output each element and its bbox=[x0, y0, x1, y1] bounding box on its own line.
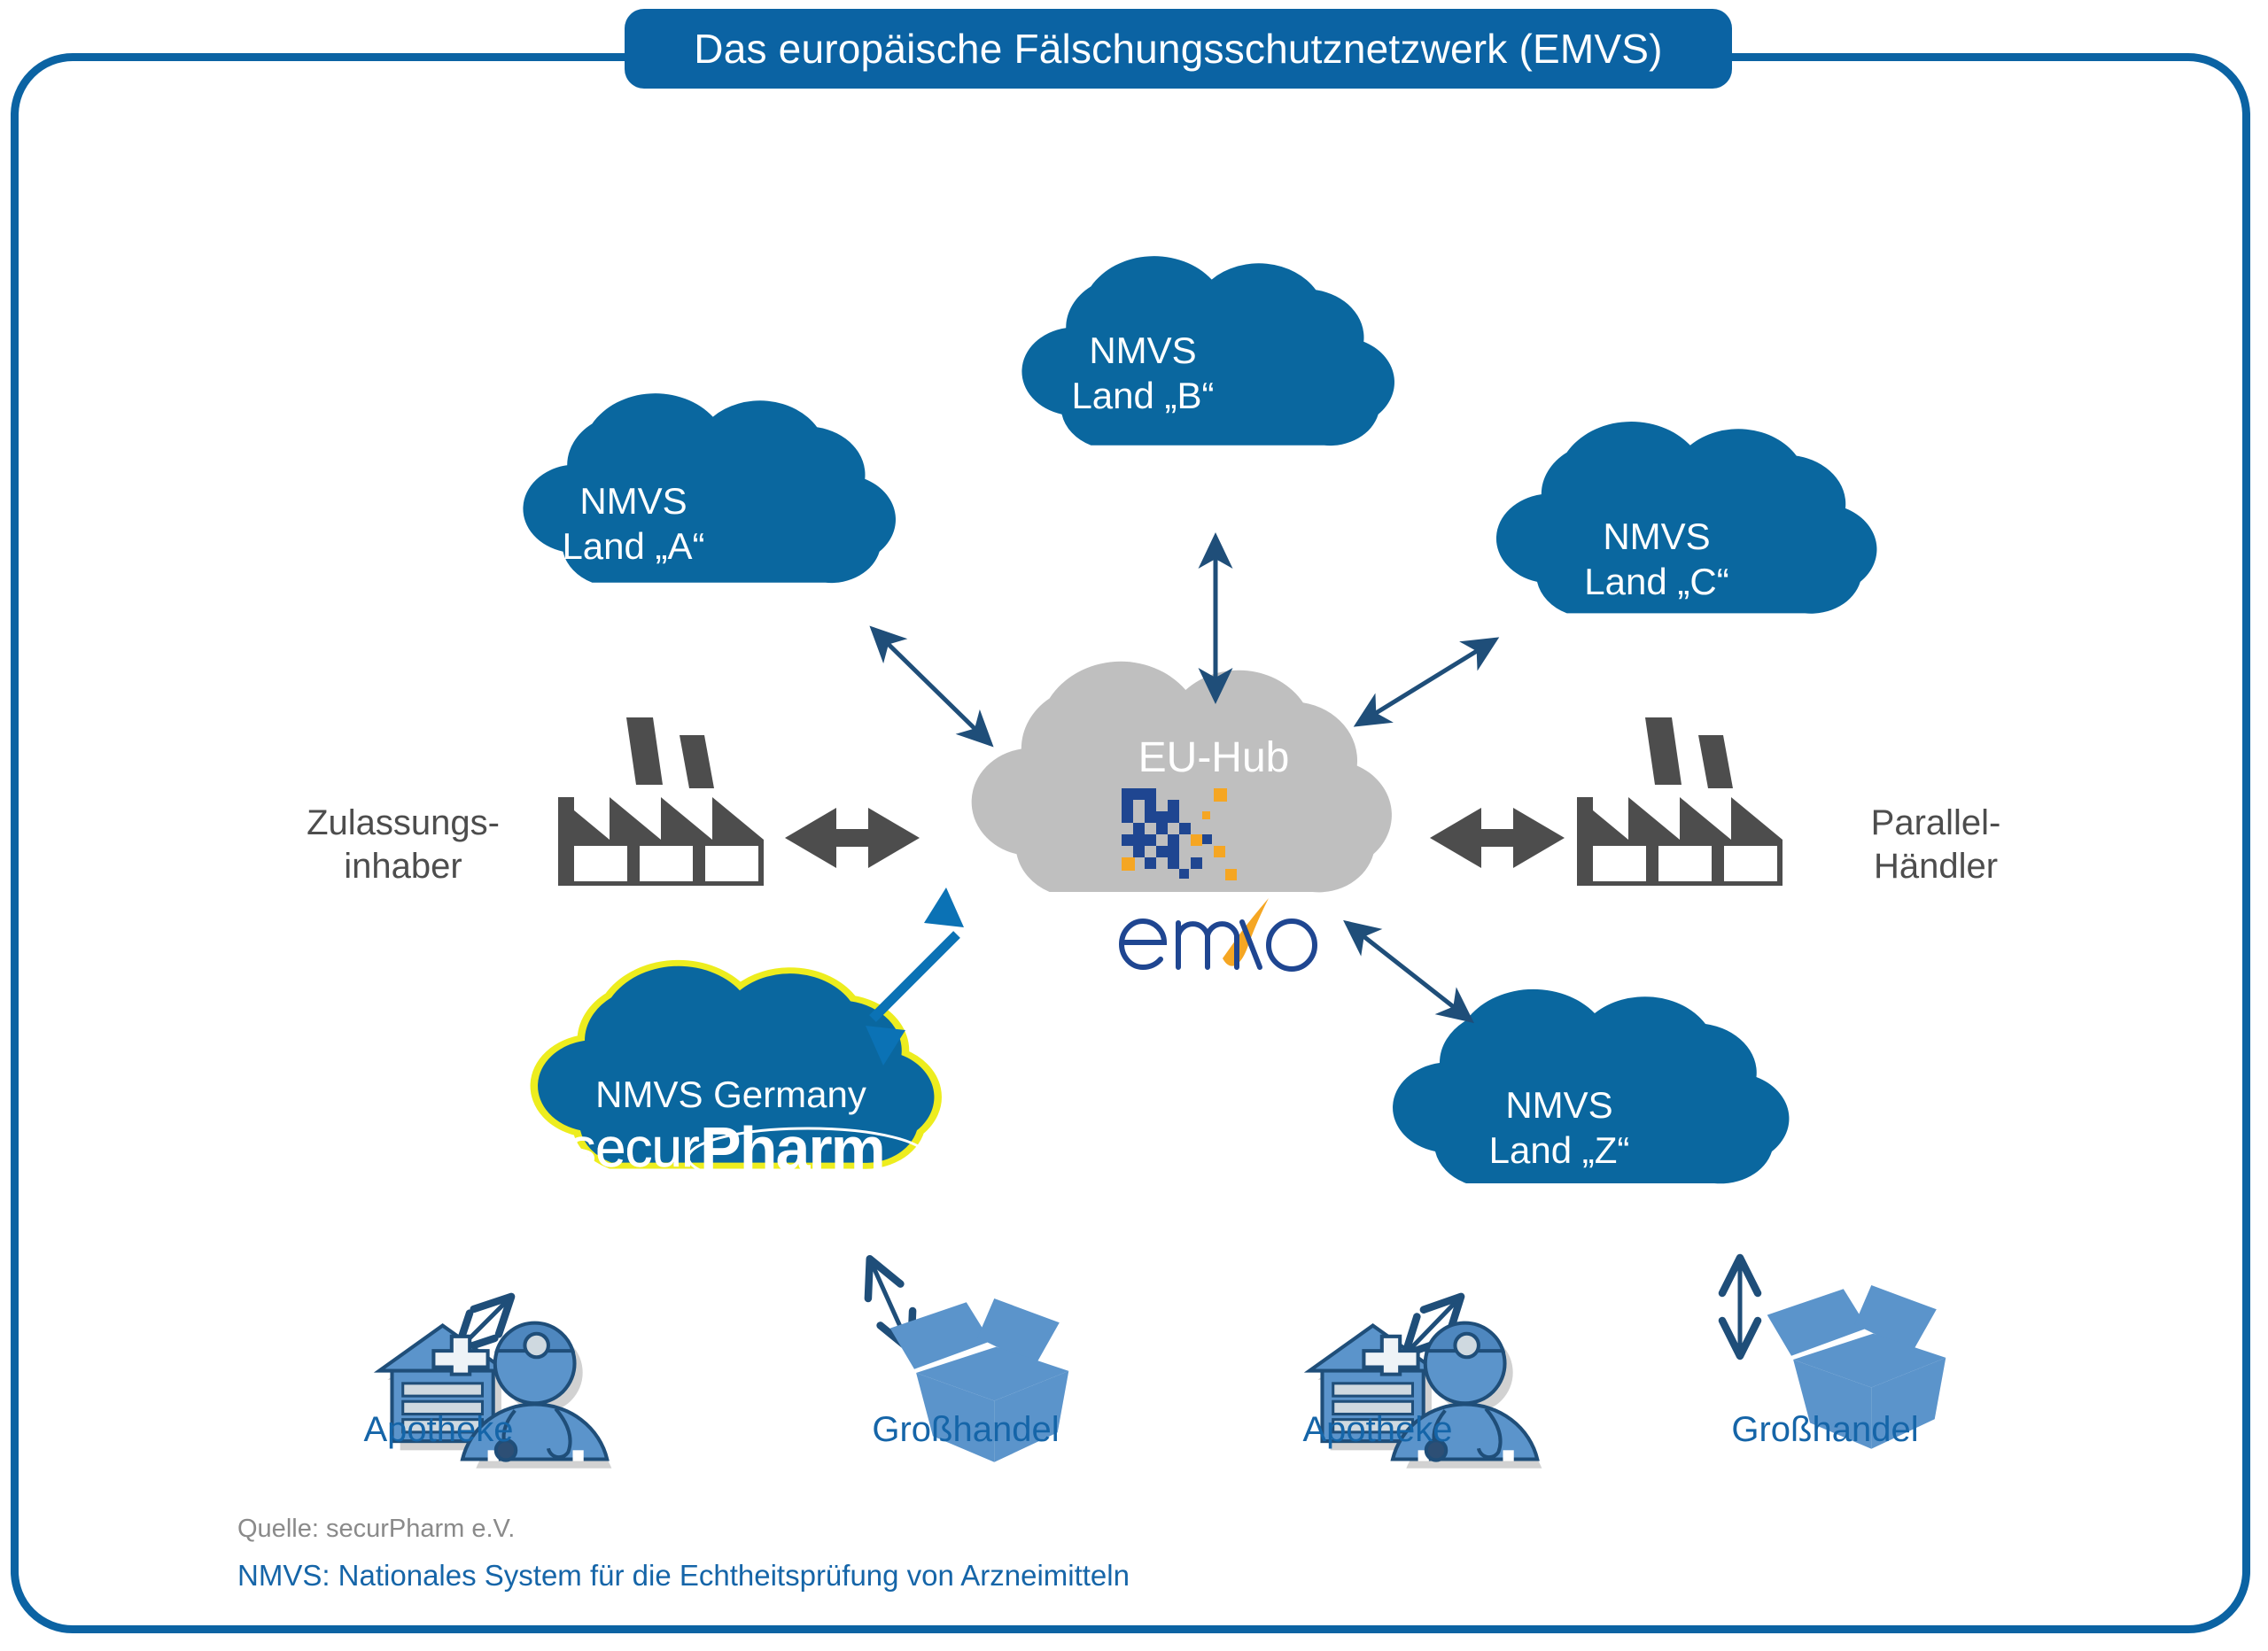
arrow-hub-securpharm bbox=[866, 888, 964, 1066]
label-apotheke-de: Apotheke bbox=[292, 1408, 585, 1452]
arrow-hub-parallelhaendler bbox=[1430, 808, 1565, 868]
label-zulassungsinhaber: Zulassungs- inhaber bbox=[266, 802, 540, 888]
arrow-hub-zulassungsinhaber bbox=[785, 808, 920, 868]
factory-icon-zulassungsinhaber bbox=[558, 717, 764, 886]
page-title: Das europäische Fälschungsschutznetzwerk… bbox=[694, 25, 1662, 73]
cloud-nmvs-land-a[interactable] bbox=[523, 393, 896, 583]
securpharm-logo: secur Pharm bbox=[567, 1112, 939, 1191]
label-apotheke-z: Apotheke bbox=[1231, 1408, 1524, 1452]
securpharm-logo-pharm: Pharm bbox=[700, 1114, 884, 1183]
label-grosshandel-z: Großhandel bbox=[1666, 1408, 1984, 1452]
arrow-hub-land-c bbox=[1357, 639, 1495, 725]
factory-icon-parallelhaendler bbox=[1577, 717, 1783, 886]
diagram-canvas: Das europäische Fälschungsschutznetzwerk… bbox=[0, 0, 2268, 1651]
cloud-eu-hub[interactable] bbox=[972, 662, 1392, 893]
source-note: Quelle: securPharm e.V. bbox=[237, 1515, 515, 1544]
label-grosshandel-de: Großhandel bbox=[806, 1408, 1125, 1452]
arrow-hub-land-a bbox=[873, 629, 990, 744]
securpharm-logo-secur: secur bbox=[569, 1118, 699, 1179]
diagram-title-banner: Das europäische Fälschungsschutznetzwerk… bbox=[625, 9, 1732, 89]
arrow-hub-land-z bbox=[1347, 923, 1471, 1020]
nmvs-legend: NMVS: Nationales System für die Echtheit… bbox=[237, 1559, 1130, 1593]
cloud-nmvs-land-z[interactable] bbox=[1393, 989, 1789, 1183]
label-parallelhaendler: Parallel- Händler bbox=[1798, 802, 2073, 888]
cloud-nmvs-land-c[interactable] bbox=[1496, 422, 1877, 614]
cloud-nmvs-land-b[interactable] bbox=[1021, 256, 1394, 446]
